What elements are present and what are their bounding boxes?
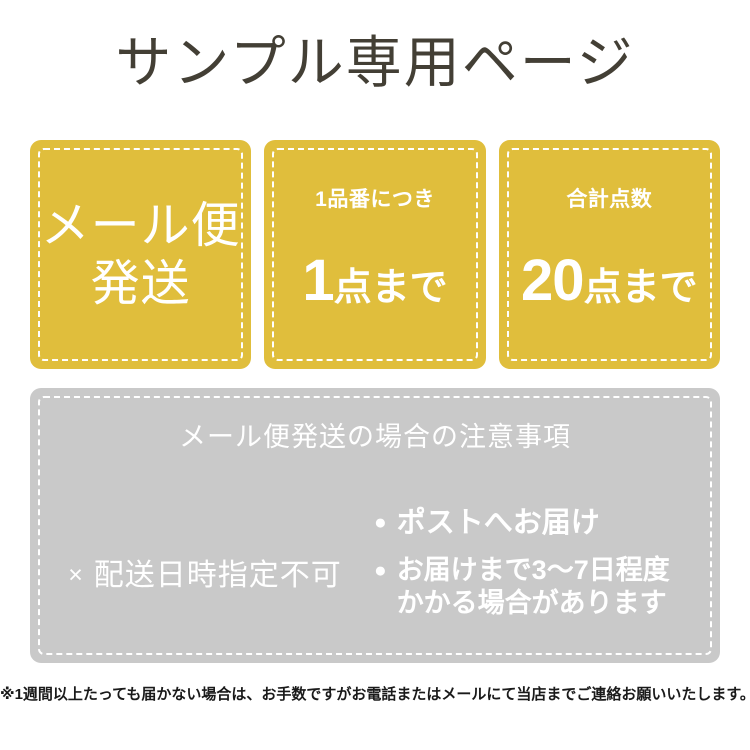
bullet-dot-icon: ● <box>374 506 387 540</box>
feature-box-content: 1品番につき 1点まで <box>264 187 485 322</box>
no-date-time-designation-label: 配送日時指定不可 <box>94 559 342 592</box>
cross-mark-icon: × <box>68 561 84 589</box>
bullet-dot-icon: ● <box>374 554 387 588</box>
total-limit-caption: 合計点数 <box>505 187 714 213</box>
shipping-method-line-2: 発送 <box>36 255 245 313</box>
notice-right-column: ● ポストへお届け ● お届けまで3〜7日程度 かかる場合があります <box>370 500 720 634</box>
delivery-to-mailbox-label: ポストへお届け <box>397 506 600 540</box>
total-limit-number: 20 <box>521 248 584 313</box>
list-item: ● お届けまで3〜7日程度 かかる場合があります <box>374 554 720 620</box>
total-limit-unit: 点まで <box>584 267 698 309</box>
page-title: サンプル専用ページ <box>0 32 750 94</box>
feature-box-shipping-method: メール便 発送 <box>30 140 251 369</box>
feature-box-content: メール便 発送 <box>30 197 251 313</box>
total-limit-amount: 20点まで <box>505 255 714 322</box>
feature-box-row: メール便 発送 1品番につき 1点まで 合計点数 20点まで <box>30 140 720 369</box>
footer-note: ※1週間以上たっても届かない場合は、お手数ですがお電話またはメールにて当店までご… <box>0 684 750 706</box>
shipping-method-line-1: メール便 <box>36 197 245 255</box>
notice-left-column: ×配送日時指定不可 <box>30 500 370 650</box>
per-item-limit-caption: 1品番につき <box>270 187 479 213</box>
list-item: ● ポストへお届け <box>374 506 720 540</box>
delivery-time-label: お届けまで3〜7日程度 かかる場合があります <box>397 554 670 620</box>
sample-shipping-info-banner: サンプル専用ページ メール便 発送 1品番につき 1点まで 合計点数 <box>0 0 750 750</box>
feature-box-per-item-limit: 1品番につき 1点まで <box>264 140 485 369</box>
feature-box-total-limit: 合計点数 20点まで <box>499 140 720 369</box>
delivery-time-line-2: かかる場合があります <box>397 587 670 620</box>
feature-box-content: 合計点数 20点まで <box>499 187 720 322</box>
notice-panel: メール便発送の場合の注意事項 ×配送日時指定不可 ● ポストへお届け ● お届け… <box>30 388 720 663</box>
per-item-limit-unit: 点まで <box>334 267 448 309</box>
per-item-limit-amount: 1点まで <box>270 255 479 322</box>
no-date-time-designation-item: ×配送日時指定不可 <box>68 557 342 594</box>
per-item-limit-number: 1 <box>302 248 333 313</box>
notice-columns: ×配送日時指定不可 ● ポストへお届け ● お届けまで3〜7日程度 かかる場合が… <box>30 500 720 650</box>
notice-heading: メール便発送の場合の注意事項 <box>30 420 720 454</box>
delivery-time-line-1: お届けまで3〜7日程度 <box>397 555 670 585</box>
